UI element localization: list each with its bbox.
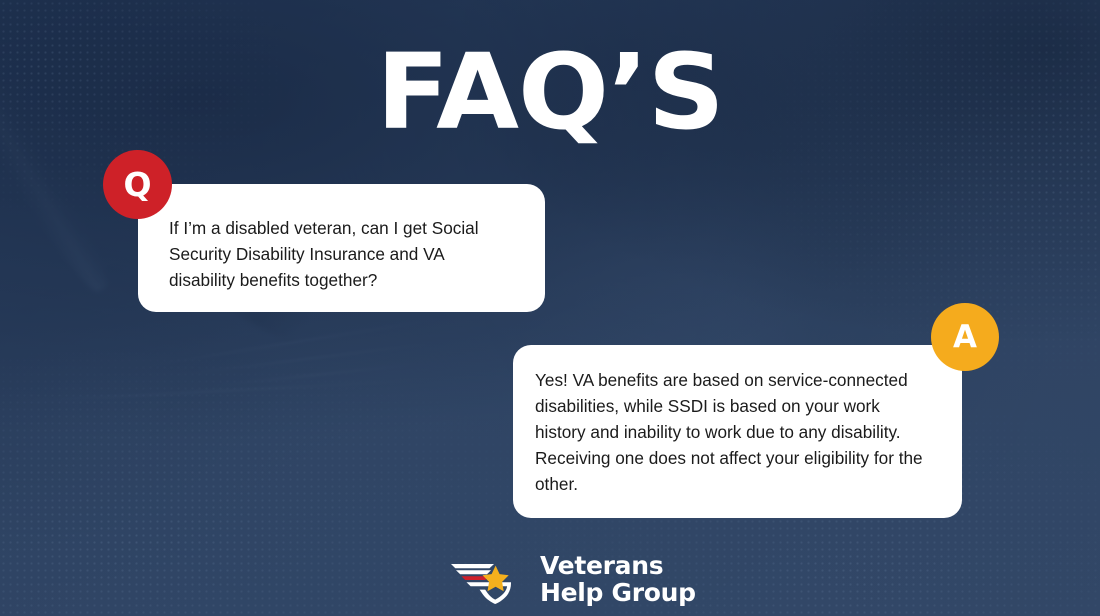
page-title: FAQ’S [0, 36, 1100, 148]
brand-logo-text: Veterans Help Group [540, 552, 696, 606]
question-bubble: If I’m a disabled veteran, can I get Soc… [138, 184, 545, 312]
question-text: If I’m a disabled veteran, can I get Soc… [169, 215, 507, 293]
veterans-help-group-shield-star-icon [449, 553, 527, 605]
question-badge: Q [103, 150, 172, 219]
answer-bubble: Yes! VA benefits are based on service-co… [513, 345, 962, 518]
answer-text: Yes! VA benefits are based on service-co… [535, 367, 932, 497]
answer-badge: A [931, 303, 999, 371]
brand-logo-line-2: Help Group [540, 579, 696, 606]
brand-logo: Veterans Help Group [449, 552, 696, 606]
faq-social-card: FAQ’S If I’m a disabled veteran, can I g… [0, 0, 1100, 616]
brand-logo-line-1: Veterans [540, 552, 696, 579]
